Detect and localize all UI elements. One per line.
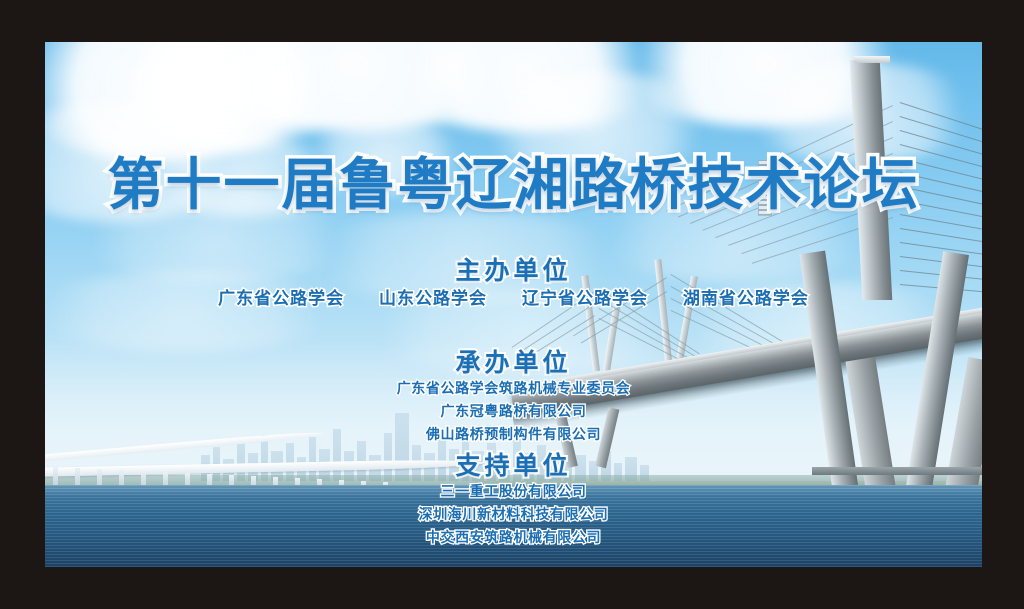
section-host: 主办单位 广东省公路学会 山东公路学会 辽宁省公路学会 湖南省公路学会 (45, 255, 982, 313)
host-item-2: 山东公路学会 (379, 289, 487, 309)
poster-frame: 第十一届鲁粤辽湘路桥技术论坛 主办单位 广东省公路学会 山东公路学会 辽宁省公路… (0, 0, 1024, 609)
host-item-4: 湖南省公路学会 (683, 289, 809, 309)
section-supporter-items: 三一重工股份有限公司 深圳海川新材料科技有限公司 中交西安筑路机械有限公司 (45, 481, 982, 549)
section-host-heading: 主办单位 (45, 255, 982, 286)
section-coorganizer: 承办单位 广东省公路学会筑路机械专业委员会 广东冠粤路桥有限公司 佛山路桥预制构… (45, 347, 982, 446)
section-coorganizer-heading: 承办单位 (45, 347, 982, 378)
host-item-3: 辽宁省公路学会 (522, 289, 648, 309)
coorganizer-item-3: 佛山路桥预制构件有限公司 (45, 424, 982, 447)
section-supporter: 支持单位 三一重工股份有限公司 深圳海川新材料科技有限公司 中交西安筑路机械有限… (45, 450, 982, 549)
section-host-items: 广东省公路学会 山东公路学会 辽宁省公路学会 湖南省公路学会 (45, 286, 982, 312)
page-title: 第十一届鲁粤辽湘路桥技术论坛 (45, 152, 982, 219)
coorganizer-item-1: 广东省公路学会筑路机械专业委员会 (45, 378, 982, 401)
section-coorganizer-items: 广东省公路学会筑路机械专业委员会 广东冠粤路桥有限公司 佛山路桥预制构件有限公司 (45, 378, 982, 446)
coorganizer-item-2: 广东冠粤路桥有限公司 (45, 401, 982, 424)
poster-artboard: 第十一届鲁粤辽湘路桥技术论坛 主办单位 广东省公路学会 山东公路学会 辽宁省公路… (45, 42, 982, 567)
host-item-1: 广东省公路学会 (218, 289, 344, 309)
supporter-item-3: 中交西安筑路机械有限公司 (45, 527, 982, 550)
section-supporter-heading: 支持单位 (45, 450, 982, 481)
supporter-item-2: 深圳海川新材料科技有限公司 (45, 504, 982, 527)
supporter-item-1: 三一重工股份有限公司 (45, 481, 982, 504)
